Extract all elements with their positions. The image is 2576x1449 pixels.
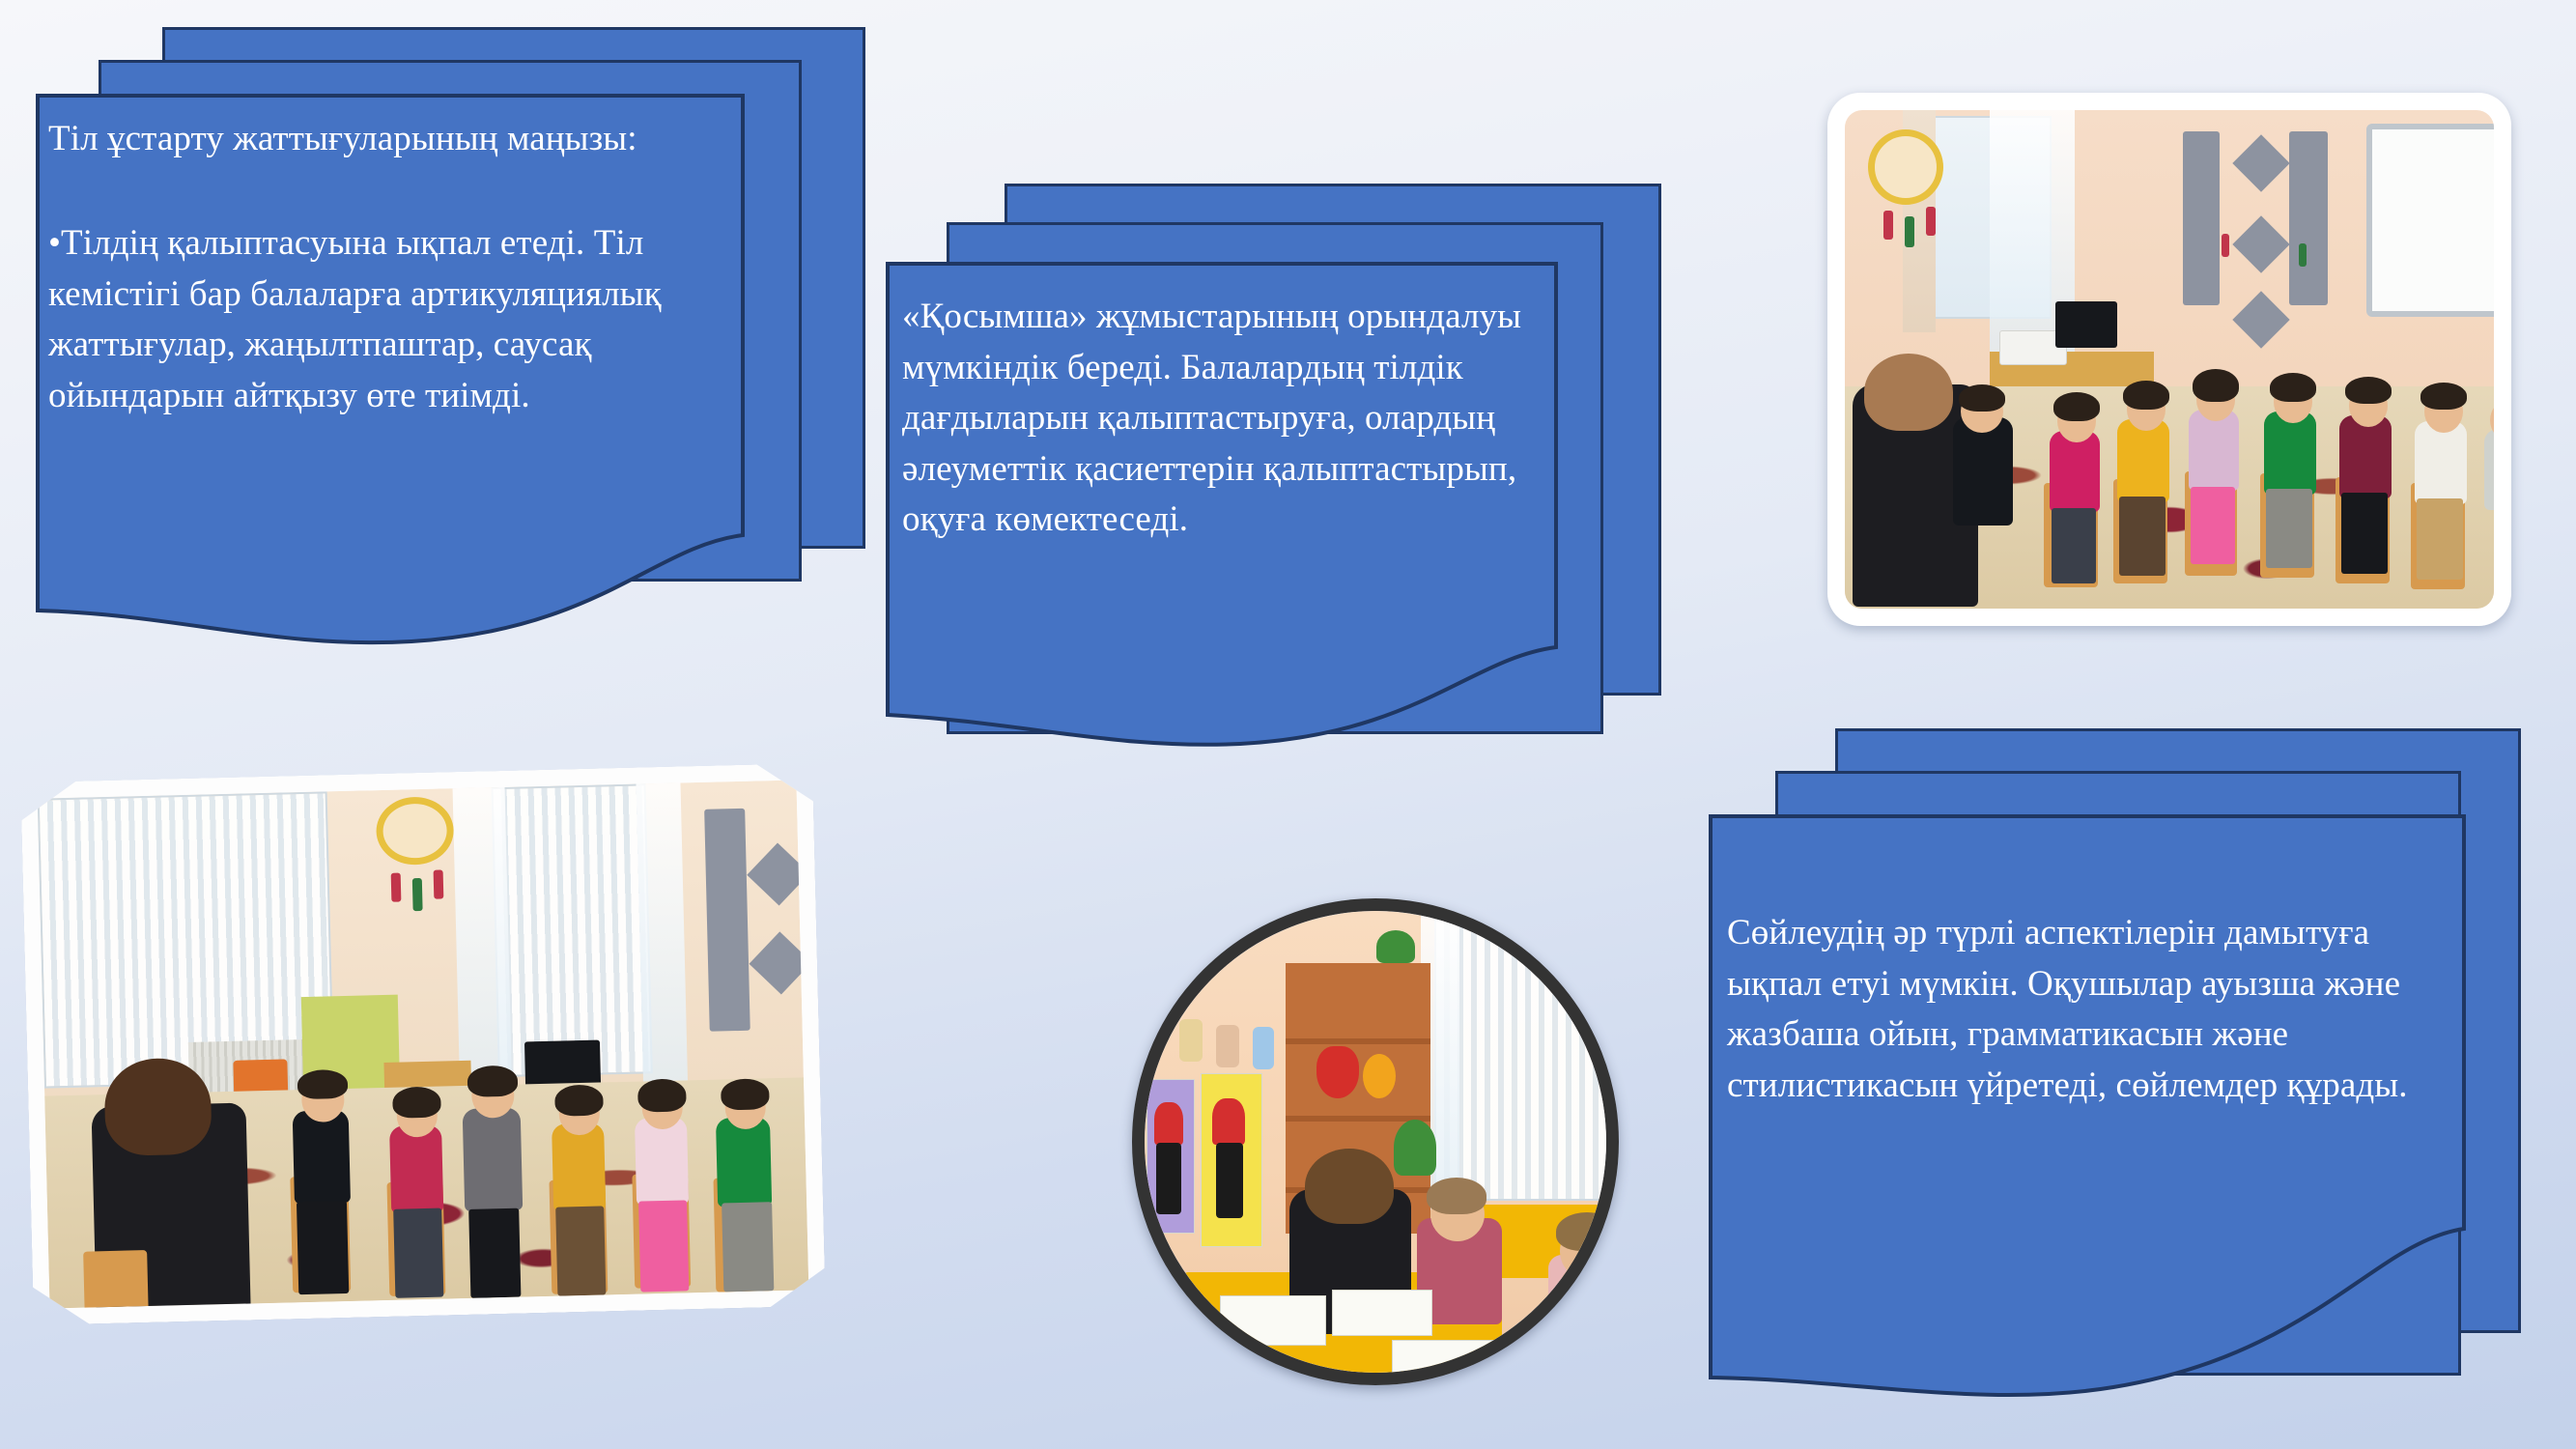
card-left-paragraph-2: •Тілдің қалыптасуына ықпал етеді. Тіл ке…: [48, 218, 715, 421]
card-middle-paragraph-1: «Қосымша» жұмыстарының орындалуы мүмкінд…: [902, 292, 1526, 546]
card-right-front-layer: Сөйлеудің әр түрлі аспектілерін дамытуға…: [1708, 813, 2471, 1432]
card-right-paragraph-1: Сөйлеудің әр түрлі аспектілерін дамытуға…: [1727, 908, 2428, 1111]
teacher-with-children-at-table-photo-image: [1145, 911, 1606, 1373]
card-middle-front-layer: «Қосымша» жұмыстарының орындалуы мүмкінд…: [885, 261, 1551, 744]
classroom-group-lesson-photo: [20, 763, 825, 1325]
classroom-circle-time-photo-image: [1845, 110, 2494, 609]
card-group-middle: «Қосымша» жұмыстарының орындалуы мүмкінд…: [850, 145, 1758, 918]
teacher-with-children-at-table-photo: [1132, 898, 1619, 1385]
classroom-circle-time-photo: [1827, 93, 2511, 626]
card-left-paragraph-1: Тіл ұстарту жаттығуларының маңызы:: [48, 114, 715, 165]
classroom-group-lesson-photo-image: [38, 780, 809, 1308]
card-group-right: Сөйлеудің әр түрлі аспектілерін дамытуға…: [1642, 715, 2569, 1449]
card-left-front-layer: Тіл ұстарту жаттығуларының маңызы: •Тілд…: [35, 93, 738, 643]
card-group-left: Тіл ұстарту жаттығуларының маңызы: •Тілд…: [0, 0, 889, 657]
